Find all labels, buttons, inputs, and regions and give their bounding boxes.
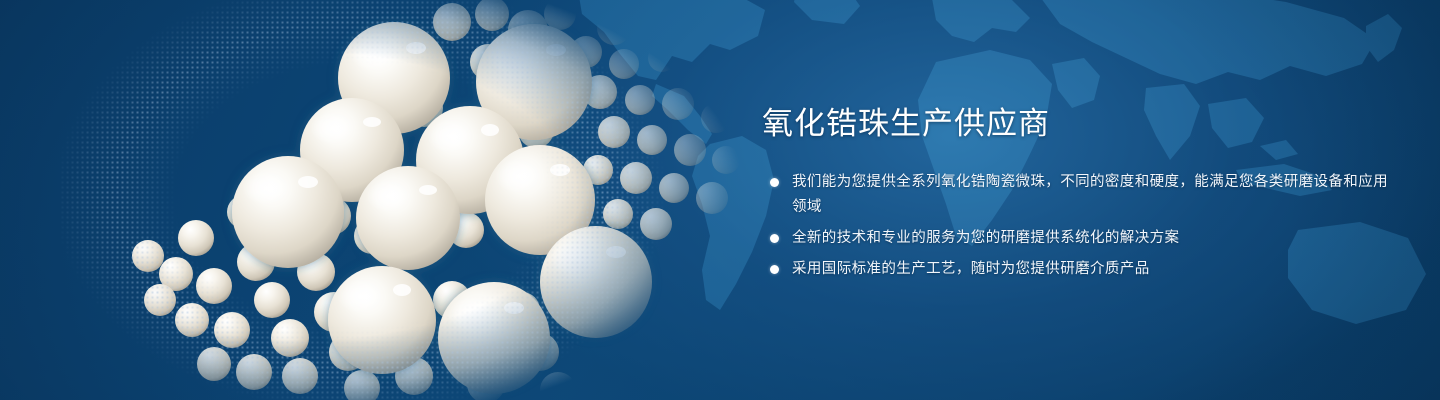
feature-text: 全新的技术和专业的服务为您的研磨提供系统化的解决方案 [792,226,1402,251]
bullet-dot-icon [770,265,779,274]
list-item: 我们能为您提供全系列氧化锆陶瓷微珠，不同的密度和硬度，能满足您各类研磨设备和应用… [762,170,1402,220]
banner-content: 氧化锆珠生产供应商 我们能为您提供全系列氧化锆陶瓷微珠，不同的密度和硬度，能满足… [762,104,1402,282]
feature-text: 采用国际标准的生产工艺，随时为您提供研磨介质产品 [792,257,1402,282]
list-item: 采用国际标准的生产工艺，随时为您提供研磨介质产品 [762,257,1402,282]
bullet-dot-icon [770,234,779,243]
bullet-dot-icon [770,178,779,187]
page-title: 氧化锆珠生产供应商 [762,104,1402,144]
hero-banner: 氧化锆珠生产供应商 我们能为您提供全系列氧化锆陶瓷微珠，不同的密度和硬度，能满足… [0,0,1440,400]
feature-list: 我们能为您提供全系列氧化锆陶瓷微珠，不同的密度和硬度，能满足您各类研磨设备和应用… [762,170,1402,282]
list-item: 全新的技术和专业的服务为您的研磨提供系统化的解决方案 [762,226,1402,251]
feature-text: 我们能为您提供全系列氧化锆陶瓷微珠，不同的密度和硬度，能满足您各类研磨设备和应用… [792,170,1402,220]
